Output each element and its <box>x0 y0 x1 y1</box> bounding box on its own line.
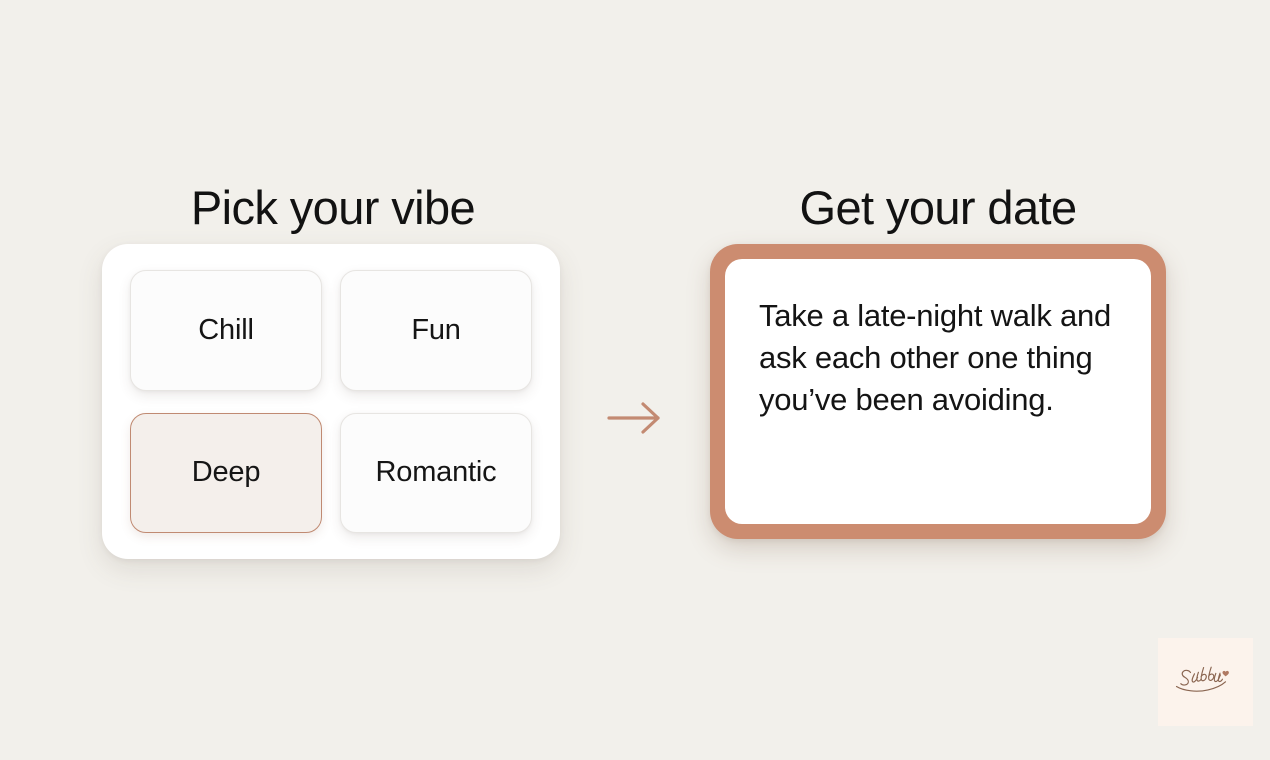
date-result-text: Take a late-night walk and ask each othe… <box>759 295 1117 421</box>
slide-canvas: Pick your vibe Chill Fun Deep Romantic <box>0 0 1270 760</box>
subbu-logo-icon <box>1166 659 1246 705</box>
vibe-option-fun[interactable]: Fun <box>340 270 532 391</box>
vibe-option-label: Romantic <box>376 456 497 489</box>
date-result-card: Take a late-night walk and ask each othe… <box>710 244 1166 539</box>
date-result-inner: Take a late-night walk and ask each othe… <box>725 259 1151 524</box>
vibe-option-romantic[interactable]: Romantic <box>340 413 532 534</box>
arrow-right-icon <box>606 401 664 435</box>
page-title-get-your-date: Get your date <box>710 170 1166 244</box>
brand-watermark <box>1158 638 1253 726</box>
vibe-option-chill[interactable]: Chill <box>130 270 322 391</box>
vibe-option-label: Fun <box>411 314 460 347</box>
vibe-option-label: Chill <box>198 314 253 347</box>
vibe-options-panel: Chill Fun Deep Romantic <box>102 244 560 559</box>
vibe-picker-column: Pick your vibe Chill Fun Deep Romantic <box>102 170 564 559</box>
result-column: Get your date Take a late-night walk and… <box>710 170 1166 539</box>
page-title-pick-your-vibe: Pick your vibe <box>102 170 564 244</box>
vibe-option-label: Deep <box>192 456 261 489</box>
flow-connector <box>604 392 666 444</box>
vibe-option-deep[interactable]: Deep <box>130 413 322 534</box>
